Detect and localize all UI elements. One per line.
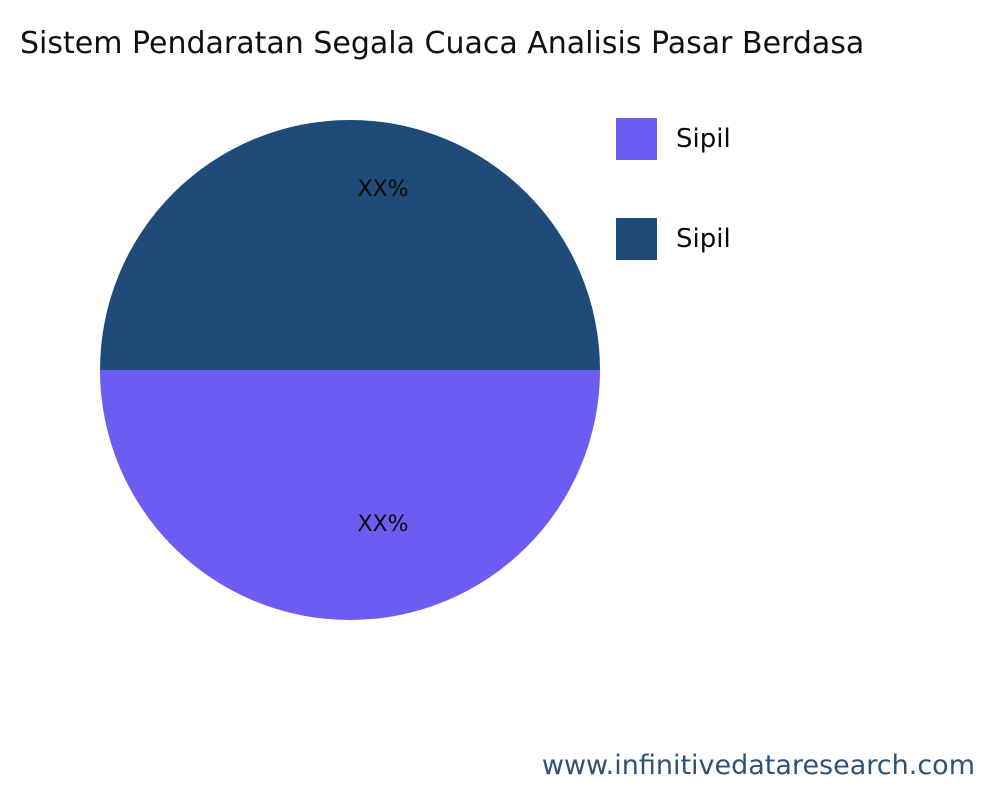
pie-chart: XX% XX%: [100, 120, 600, 620]
pie-slice-0[interactable]: [100, 370, 600, 620]
legend: Sipil Sipil: [616, 118, 936, 318]
pie-slice-1[interactable]: [100, 120, 600, 370]
chart-canvas: Sistem Pendaratan Segala Cuaca Analisis …: [0, 0, 1000, 800]
legend-label-0: Sipil: [676, 124, 731, 154]
pie-slice-label-1: XX%: [357, 178, 408, 202]
legend-swatch-icon-0: [616, 118, 657, 160]
legend-swatch-icon-1: [616, 218, 657, 260]
pie-slice-label-0: XX%: [357, 513, 408, 537]
pie-svg: [100, 120, 600, 620]
chart-title: Sistem Pendaratan Segala Cuaca Analisis …: [20, 26, 864, 62]
legend-item-0[interactable]: Sipil: [616, 118, 936, 160]
legend-label-1: Sipil: [676, 224, 731, 254]
legend-item-1[interactable]: Sipil: [616, 218, 936, 260]
source-url[interactable]: www.infinitivedataresearch.com: [542, 750, 975, 782]
